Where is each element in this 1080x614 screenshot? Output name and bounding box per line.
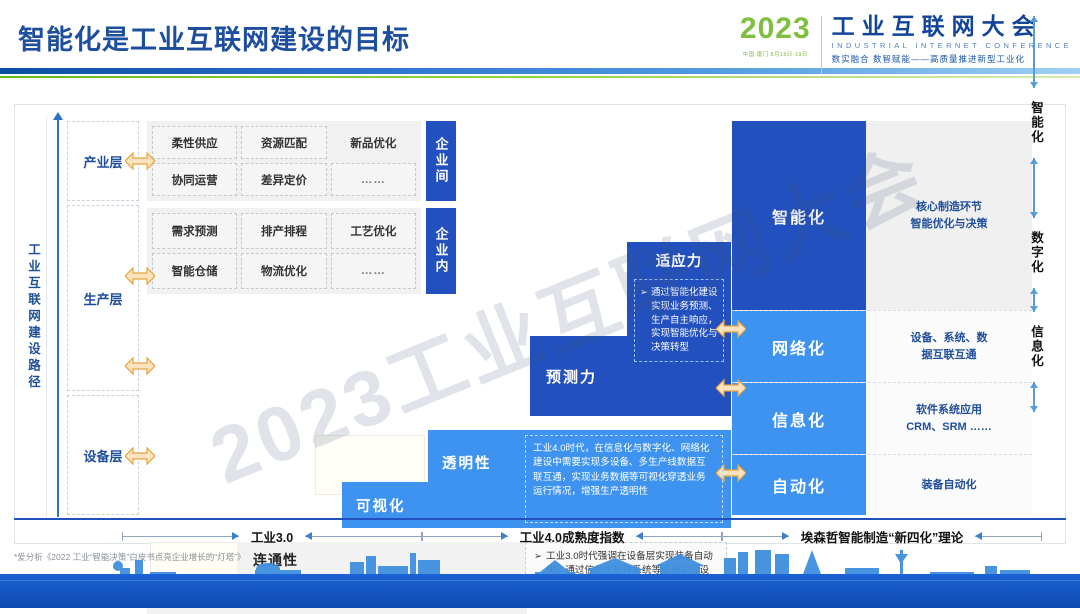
- axis-arrow-right: [305, 536, 422, 537]
- industry-card: 柔性供应: [152, 126, 237, 159]
- adaptability-note-text: 通过智能化建设实现业务预测、生产自主响应，实现智能优化与决策转型: [651, 286, 718, 355]
- capability-transparency-label: 透明性: [442, 452, 492, 473]
- logo-year: 2023: [740, 14, 811, 44]
- right-axis-line-digital: [1033, 158, 1035, 218]
- logo-year-subtitle: 中国·厦门 8月18日-19日: [743, 50, 808, 58]
- maturity-desc-automated: 装备自动化: [866, 455, 1032, 515]
- diagram-canvas: 工业互联网建设路径 产业层 生产层 设备层 柔性供应 资源匹配 新品优化 协同运…: [14, 104, 1066, 544]
- bottom-axis-label-accenture: 埃森哲智能制造“新四化”理论: [789, 527, 976, 546]
- axis-arrow-left: [722, 536, 789, 537]
- maturity-tag-automated: 自动化: [732, 455, 866, 515]
- right-axis: 智能化 数字化 信息化: [1022, 14, 1046, 412]
- maturity-row-automated: 自动化 装备自动化: [732, 455, 1032, 515]
- double-arrow-icon-to-networked: [716, 377, 746, 399]
- logo-year-block: 2023 中国·厦门 8月18日-19日: [740, 14, 821, 58]
- water-band: [0, 574, 1080, 608]
- layer-production-label: 生产层: [83, 289, 122, 308]
- double-arrow-icon-equipment: [125, 445, 155, 467]
- bullet-icon: ➢: [640, 286, 648, 355]
- maturity-desc-networked: 设备、系统、数 据互联互通: [866, 311, 1032, 382]
- production-card: 智能仓储: [152, 253, 237, 289]
- left-axis-arrow: [57, 119, 59, 517]
- vtab-inter-enterprise: 企业间: [426, 121, 456, 201]
- panel-production-cards: 需求预测 排产排程 工艺优化 智能仓储 物流优化 ……: [147, 208, 421, 294]
- vtab-intra-enterprise: 企业内: [426, 208, 456, 294]
- transparency-note: 工业4.0时代，在信息化与数字化、网络化建设中需要实现多设备、多生产线数据互联互…: [525, 435, 723, 523]
- production-card: 工艺优化: [331, 213, 416, 249]
- right-axis-line-intelligent: [1033, 16, 1035, 88]
- maturity-tag-networked: 网络化: [732, 311, 866, 382]
- production-card: 需求预测: [152, 213, 237, 249]
- bottom-axis-segment-accenture: 埃森哲智能制造“新四化”理论: [722, 524, 1042, 548]
- layer-equipment-label: 设备层: [83, 446, 122, 465]
- axis-arrow-right: [636, 536, 722, 537]
- axis-arrow-left: [422, 536, 508, 537]
- production-card: 物流优化: [241, 253, 326, 289]
- production-card: ……: [331, 253, 416, 289]
- maturity-tag-informatized: 信息化: [732, 383, 866, 454]
- production-card-grid: 需求预测 排产排程 工艺优化 智能仓储 物流优化 ……: [147, 208, 421, 294]
- bottom-axis-segment-industry40: 工业4.0成熟度指数: [422, 524, 722, 548]
- left-axis-text: 工业互联网建设路径: [24, 243, 43, 392]
- capability-adaptability-label: 适应力: [627, 242, 731, 271]
- maturity-desc-intelligent: 核心制造环节 智能优化与决策: [866, 121, 1032, 310]
- industry-card: 差异定价: [241, 163, 326, 196]
- page-title: 智能化是工业互联网建设的目标: [18, 18, 410, 57]
- capability-predictability-label: 预测力: [546, 366, 597, 387]
- maturity-row-informatized: 信息化 软件系统应用 CRM、SRM ……: [732, 383, 1032, 455]
- double-arrow-icon-industry: [125, 150, 155, 172]
- maturity-row-intelligent: 智能化 核心制造环节 智能优化与决策: [732, 121, 1032, 311]
- right-axis-label-informatized: 信息化: [1022, 316, 1046, 378]
- vtab-intra-enterprise-label: 企业内: [432, 227, 451, 275]
- industry-card: 新品优化: [331, 126, 416, 159]
- right-axis-line-bottom: [1033, 382, 1035, 412]
- axis-arrow-left: [122, 536, 239, 537]
- logo-divider: [821, 16, 822, 74]
- vtab-inter-enterprise-label: 企业间: [432, 137, 451, 185]
- industry-card: ……: [331, 163, 416, 196]
- bottom-axis-label-industry30: 工业3.0: [239, 527, 305, 546]
- double-arrow-icon-production-top: [125, 265, 155, 287]
- capability-visibility-label: 可视化: [356, 495, 406, 516]
- axis-arrow-right: [975, 536, 1042, 537]
- left-axis-label: 工业互联网建设路径: [21, 117, 47, 517]
- bottom-axis-label-industry40: 工业4.0成熟度指数: [508, 527, 637, 546]
- double-arrow-icon-production-bottom: [125, 355, 155, 377]
- maturity-desc-informatized: 软件系统应用 CRM、SRM ……: [866, 383, 1032, 454]
- industry-card: 协同运营: [152, 163, 237, 196]
- adaptability-note: ➢ 通过智能化建设实现业务预测、生产自主响应，实现智能优化与决策转型: [634, 279, 724, 362]
- bottom-axis: 工业3.0 工业4.0成熟度指数 埃森哲智能制造“新四化”理论: [14, 524, 1066, 548]
- bottom-axis-segment-industry30: 工业3.0: [122, 524, 422, 548]
- layer-industry-label: 产业层: [83, 152, 122, 171]
- right-axis-label-intelligent: 智能化: [1022, 92, 1046, 154]
- double-arrow-icon-to-intelligent: [716, 318, 746, 340]
- header-divider-green: [0, 76, 1080, 78]
- panel-industry-cards: 柔性供应 资源匹配 新品优化 协同运营 差异定价 ……: [147, 121, 421, 201]
- maturity-row-networked: 网络化 设备、系统、数 据互联互通: [732, 311, 1032, 383]
- maturity-column: 智能化 核心制造环节 智能优化与决策 网络化 设备、系统、数 据互联互通 信息化…: [732, 121, 1032, 515]
- production-card: 排产排程: [241, 213, 326, 249]
- right-axis-line-informatized: [1033, 288, 1035, 312]
- right-axis-label-digital: 数字化: [1022, 222, 1046, 284]
- skyline-decoration: [0, 550, 1080, 608]
- maturity-tag-intelligent: 智能化: [732, 121, 866, 310]
- industry-card-grid: 柔性供应 资源匹配 新品优化 协同运营 差异定价 ……: [147, 121, 421, 201]
- page-header: 智能化是工业互联网建设的目标 2023 中国·厦门 8月18日-19日 工业互联…: [0, 0, 1080, 96]
- industry-card: 资源匹配: [241, 126, 326, 159]
